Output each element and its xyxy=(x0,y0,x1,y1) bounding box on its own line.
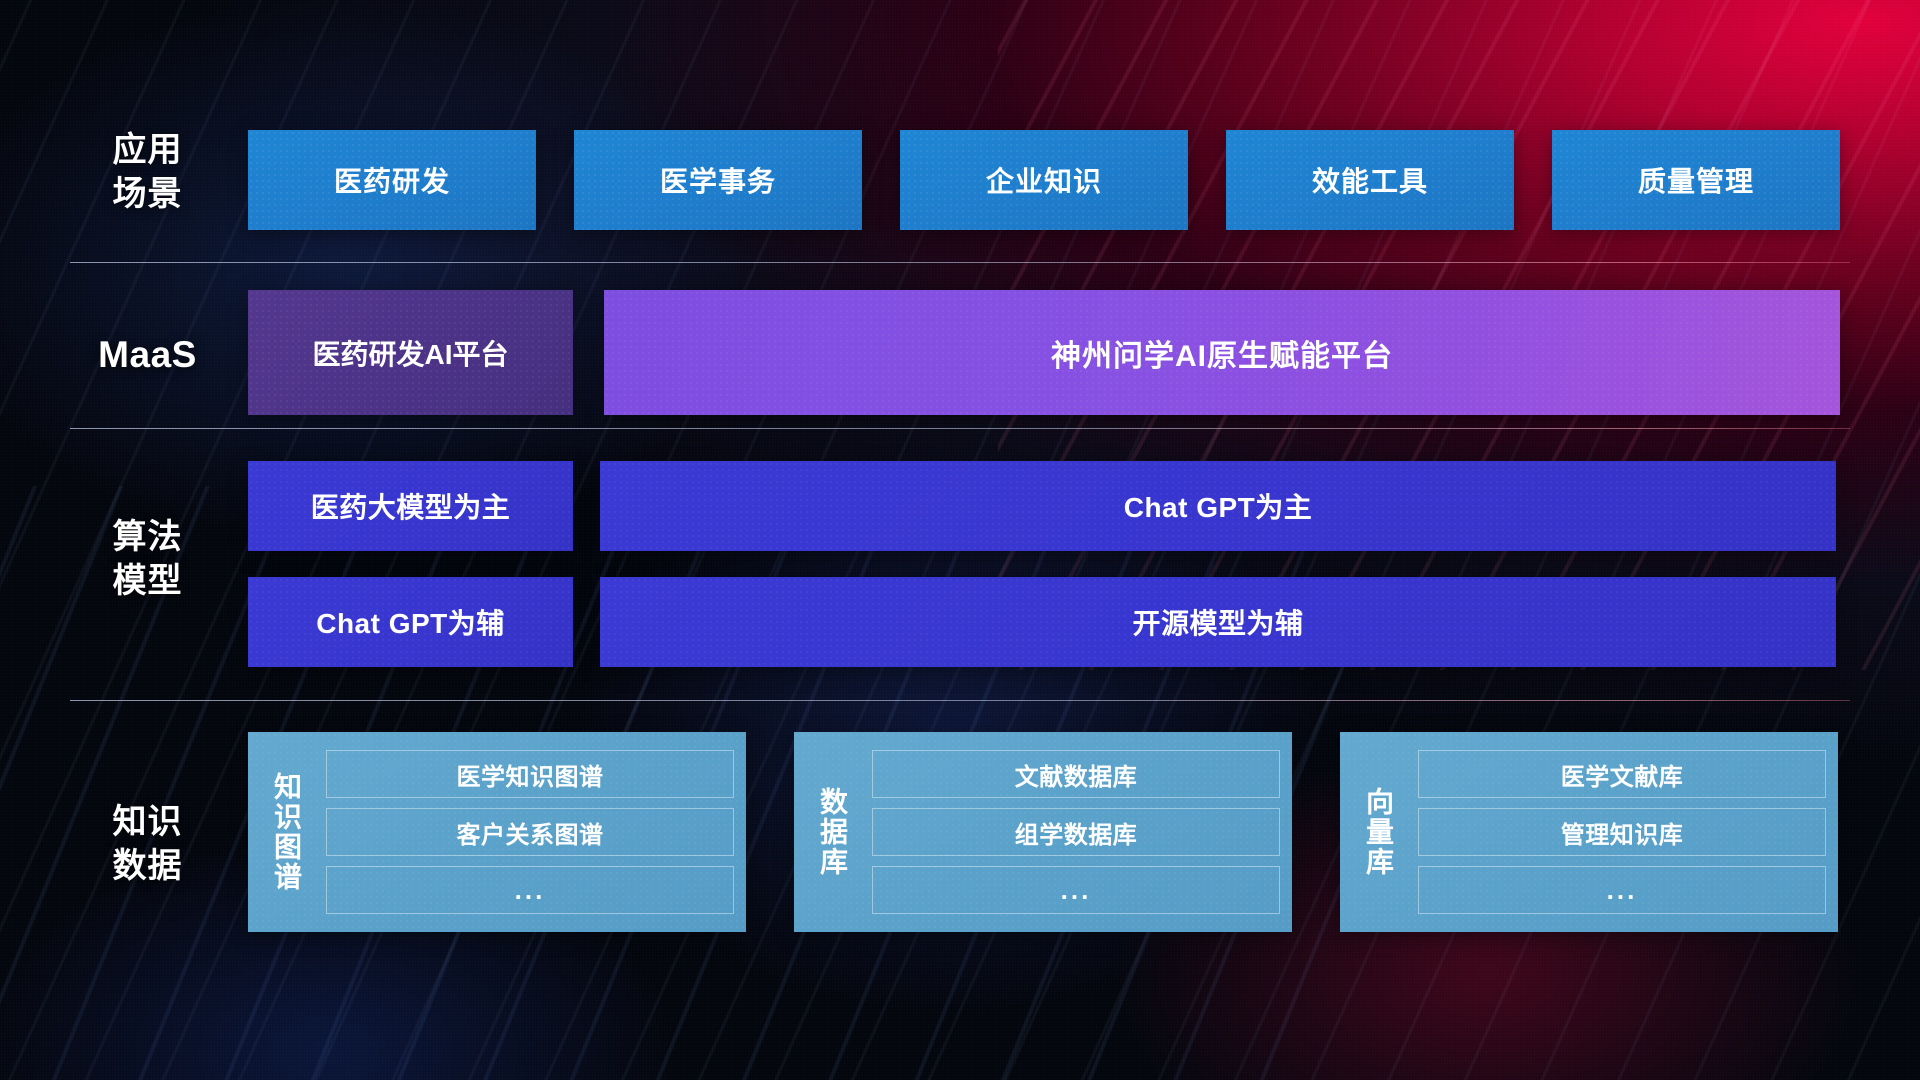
app-scenario-label-1: 医药研发 xyxy=(334,160,450,200)
knowledge-item-3-1[interactable]: 医学文献库 xyxy=(1418,750,1826,798)
maas-platform-box-right[interactable]: 神州问学AI原生赋能平台 xyxy=(604,290,1840,415)
knowledge-item-2-1[interactable]: 文献数据库 xyxy=(872,750,1280,798)
row-label-maas: MaaS xyxy=(60,333,235,377)
maas-platform-label-right: 神州问学AI原生赋能平台 xyxy=(1051,331,1393,375)
app-scenario-box-2[interactable]: 医学事务 xyxy=(574,130,862,230)
row-label-algorithm-model: 算法 模型 xyxy=(60,515,235,603)
architecture-diagram: 应用 场景 医药研发 医学事务 企业知识 效能工具 质量管理 MaaS 医药研发… xyxy=(0,0,1920,1080)
divider-after-maas xyxy=(70,428,1850,429)
row-label-knowledge-data: 知识 数据 xyxy=(60,800,235,888)
knowledge-panel-knowledge-graph[interactable]: 知识图谱 医学知识图谱 客户关系图谱 ... xyxy=(248,732,746,932)
app-scenario-label-3: 企业知识 xyxy=(986,160,1102,200)
algorithm-box-primary-left[interactable]: 医药大模型为主 xyxy=(248,461,573,551)
app-scenario-label-4: 效能工具 xyxy=(1312,160,1428,200)
app-scenario-box-4[interactable]: 效能工具 xyxy=(1226,130,1514,230)
knowledge-panel-title-2: 数据库 xyxy=(804,742,860,922)
algorithm-label-primary-right: Chat GPT为主 xyxy=(1124,486,1313,526)
knowledge-panel-items-2: 文献数据库 组学数据库 ... xyxy=(860,742,1280,922)
knowledge-panel-items-3: 医学文献库 管理知识库 ... xyxy=(1406,742,1826,922)
algorithm-box-secondary-left[interactable]: Chat GPT为辅 xyxy=(248,577,573,667)
knowledge-item-1-3[interactable]: ... xyxy=(326,866,734,914)
knowledge-panel-title-1: 知识图谱 xyxy=(258,742,314,922)
knowledge-item-3-3[interactable]: ... xyxy=(1418,866,1826,914)
app-scenario-box-5[interactable]: 质量管理 xyxy=(1552,130,1840,230)
app-scenario-label-2: 医学事务 xyxy=(660,160,776,200)
divider-after-algorithm-model xyxy=(70,700,1850,701)
knowledge-panel-database[interactable]: 数据库 文献数据库 组学数据库 ... xyxy=(794,732,1292,932)
app-scenario-label-5: 质量管理 xyxy=(1638,160,1754,200)
knowledge-panel-vector-store[interactable]: 向量库 医学文献库 管理知识库 ... xyxy=(1340,732,1838,932)
maas-platform-label-left: 医药研发AI平台 xyxy=(312,333,508,373)
knowledge-panel-items-1: 医学知识图谱 客户关系图谱 ... xyxy=(314,742,734,922)
knowledge-item-2-3[interactable]: ... xyxy=(872,866,1280,914)
algorithm-box-secondary-right[interactable]: 开源模型为辅 xyxy=(600,577,1836,667)
algorithm-box-primary-right[interactable]: Chat GPT为主 xyxy=(600,461,1836,551)
row-label-application-scenarios: 应用 场景 xyxy=(60,128,235,216)
app-scenario-box-3[interactable]: 企业知识 xyxy=(900,130,1188,230)
knowledge-item-1-1[interactable]: 医学知识图谱 xyxy=(326,750,734,798)
maas-platform-box-left[interactable]: 医药研发AI平台 xyxy=(248,290,573,415)
knowledge-item-3-2[interactable]: 管理知识库 xyxy=(1418,808,1826,856)
divider-after-application-scenarios xyxy=(70,262,1850,263)
algorithm-label-secondary-left: Chat GPT为辅 xyxy=(316,602,505,642)
knowledge-item-2-2[interactable]: 组学数据库 xyxy=(872,808,1280,856)
knowledge-item-1-2[interactable]: 客户关系图谱 xyxy=(326,808,734,856)
algorithm-label-secondary-right: 开源模型为辅 xyxy=(1132,602,1303,642)
knowledge-panel-title-3: 向量库 xyxy=(1350,742,1406,922)
algorithm-label-primary-left: 医药大模型为主 xyxy=(311,486,511,526)
app-scenario-box-1[interactable]: 医药研发 xyxy=(248,130,536,230)
